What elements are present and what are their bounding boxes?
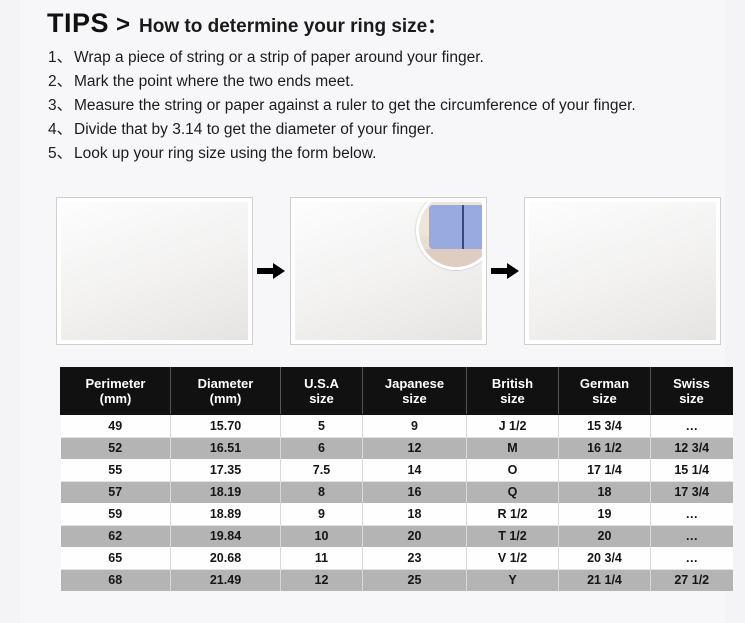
table-row: 57 18.19 8 16 Q 18 17 3/4 xyxy=(61,481,733,503)
table-row: 52 16.51 6 12 M 16 1/2 12 3/4 xyxy=(61,437,733,459)
table-row: 49 15.70 5 9 J 1/2 15 3/4 … xyxy=(61,415,733,438)
list-item: 5、 Look up your ring size using the form… xyxy=(48,143,718,165)
list-item-number: 5、 xyxy=(48,143,74,165)
cell-swiss-size: … xyxy=(651,525,733,547)
cell-british-size: T 1/2 xyxy=(467,525,559,547)
cell-swiss-size: 27 1/2 xyxy=(651,569,733,591)
table-row: 62 19.84 10 20 T 1/2 20 … xyxy=(61,525,733,547)
list-item-number: 4、 xyxy=(48,119,74,141)
cell-diameter: 15.70 xyxy=(171,415,281,438)
page-background: TIPS > How to determine your ring size： … xyxy=(0,0,745,623)
cell-swiss-size: 15 1/4 xyxy=(651,459,733,481)
cell-british-size: Q xyxy=(467,481,559,503)
cell-usa-size: 8 xyxy=(281,481,363,503)
cell-diameter: 20.68 xyxy=(171,547,281,569)
list-item: 4、 Divide that by 3.14 to get the diamet… xyxy=(48,119,718,141)
cell-diameter: 21.49 xyxy=(171,569,281,591)
cell-british-size: Y xyxy=(467,569,559,591)
cell-japanese-size: 16 xyxy=(363,481,467,503)
cell-british-size: R 1/2 xyxy=(467,503,559,525)
cell-japanese-size: 20 xyxy=(363,525,467,547)
cell-japanese-size: 18 xyxy=(363,503,467,525)
instruction-photo-strip: 0 1cm 2 3 4 5 6 7 8 9 10 xyxy=(56,197,736,345)
list-item: 2、 Mark the point where the two ends mee… xyxy=(48,71,718,93)
cell-usa-size: 11 xyxy=(281,547,363,569)
list-item-number: 1、 xyxy=(48,47,74,69)
page-subtitle: How to determine your ring size： xyxy=(139,17,446,36)
cell-diameter: 17.35 xyxy=(171,459,281,481)
list-item: 1、 Wrap a piece of string or a strip of … xyxy=(48,47,718,69)
cell-japanese-size: 23 xyxy=(363,547,467,569)
cell-german-size: 15 3/4 xyxy=(559,415,651,438)
column-header-british-size: British size xyxy=(467,368,559,415)
cell-diameter: 18.89 xyxy=(171,503,281,525)
cell-british-size: V 1/2 xyxy=(467,547,559,569)
table-row: 65 20.68 11 23 V 1/2 20 3/4 … xyxy=(61,547,733,569)
cell-usa-size: 6 xyxy=(281,437,363,459)
table-row: 59 18.89 9 18 R 1/2 19 … xyxy=(61,503,733,525)
cell-german-size: 20 xyxy=(559,525,651,547)
cell-german-size: 18 xyxy=(559,481,651,503)
cell-swiss-size: … xyxy=(651,547,733,569)
column-header-swiss-size: Swiss size xyxy=(651,368,733,415)
column-header-german-size: German size xyxy=(559,368,651,415)
column-header-usa-size: U.S.A size xyxy=(281,368,363,415)
cell-perimeter: 68 xyxy=(61,569,171,591)
table-row: 55 17.35 7.5 14 O 17 1/4 15 1/4 xyxy=(61,459,733,481)
cell-perimeter: 49 xyxy=(61,415,171,438)
cell-perimeter: 65 xyxy=(61,547,171,569)
cell-german-size: 19 xyxy=(559,503,651,525)
ring-size-table: Perimeter (mm) Diameter (mm) U.S.A size … xyxy=(60,367,733,591)
cell-british-size: O xyxy=(467,459,559,481)
instruction-list: 1、 Wrap a piece of string or a strip of … xyxy=(48,47,718,167)
list-item-label: Wrap a piece of string or a strip of pap… xyxy=(74,47,484,69)
cell-diameter: 16.51 xyxy=(171,437,281,459)
marking-strip-with-pen-photo xyxy=(290,197,487,345)
list-item-label: Measure the string or paper against a ru… xyxy=(74,95,636,117)
cell-usa-size: 9 xyxy=(281,503,363,525)
cell-swiss-size: … xyxy=(651,503,733,525)
list-item-label: Divide that by 3.14 to get the diameter … xyxy=(74,119,434,141)
cell-usa-size: 7.5 xyxy=(281,459,363,481)
list-item-number: 3、 xyxy=(48,95,74,117)
table-row: 68 21.49 12 25 Y 21 1/4 27 1/2 xyxy=(61,569,733,591)
cell-japanese-size: 14 xyxy=(363,459,467,481)
measuring-strip-with-ruler-photo: 0 1cm 2 3 4 5 6 7 8 9 10 xyxy=(524,197,721,345)
cell-german-size: 17 1/4 xyxy=(559,459,651,481)
cell-german-size: 21 1/4 xyxy=(559,569,651,591)
cell-swiss-size: … xyxy=(651,415,733,438)
cell-perimeter: 62 xyxy=(61,525,171,547)
cell-usa-size: 5 xyxy=(281,415,363,438)
column-header-japanese-size: Japanese size xyxy=(363,368,467,415)
page-title: TIPS > How to determine your ring size： xyxy=(47,10,446,37)
hand-with-paper-strip-photo xyxy=(56,197,253,345)
cell-british-size: M xyxy=(467,437,559,459)
list-item-label: Look up your ring size using the form be… xyxy=(74,143,376,165)
chevron-right-icon: > xyxy=(116,13,130,37)
cell-german-size: 20 3/4 xyxy=(559,547,651,569)
cell-perimeter: 55 xyxy=(61,459,171,481)
cell-usa-size: 12 xyxy=(281,569,363,591)
arrow-step-1-to-2 xyxy=(257,263,285,279)
column-header-diameter: Diameter (mm) xyxy=(171,368,281,415)
cell-japanese-size: 9 xyxy=(363,415,467,438)
column-header-perimeter: Perimeter (mm) xyxy=(61,368,171,415)
cell-japanese-size: 12 xyxy=(363,437,467,459)
cell-swiss-size: 12 3/4 xyxy=(651,437,733,459)
list-item: 3、 Measure the string or paper against a… xyxy=(48,95,718,117)
cell-perimeter: 59 xyxy=(61,503,171,525)
cell-perimeter: 52 xyxy=(61,437,171,459)
arrow-step-2-to-3 xyxy=(491,263,519,279)
cell-german-size: 16 1/2 xyxy=(559,437,651,459)
cell-swiss-size: 17 3/4 xyxy=(651,481,733,503)
cell-usa-size: 10 xyxy=(281,525,363,547)
cell-british-size: J 1/2 xyxy=(467,415,559,438)
cell-japanese-size: 25 xyxy=(363,569,467,591)
cell-perimeter: 57 xyxy=(61,481,171,503)
list-item-label: Mark the point where the two ends meet. xyxy=(74,71,354,93)
cell-diameter: 18.19 xyxy=(171,481,281,503)
tips-label: TIPS xyxy=(47,10,109,37)
cell-diameter: 19.84 xyxy=(171,525,281,547)
table-header-row: Perimeter (mm) Diameter (mm) U.S.A size … xyxy=(61,368,733,415)
page-content-area: TIPS > How to determine your ring size： … xyxy=(20,0,725,623)
list-item-number: 2、 xyxy=(48,71,74,93)
